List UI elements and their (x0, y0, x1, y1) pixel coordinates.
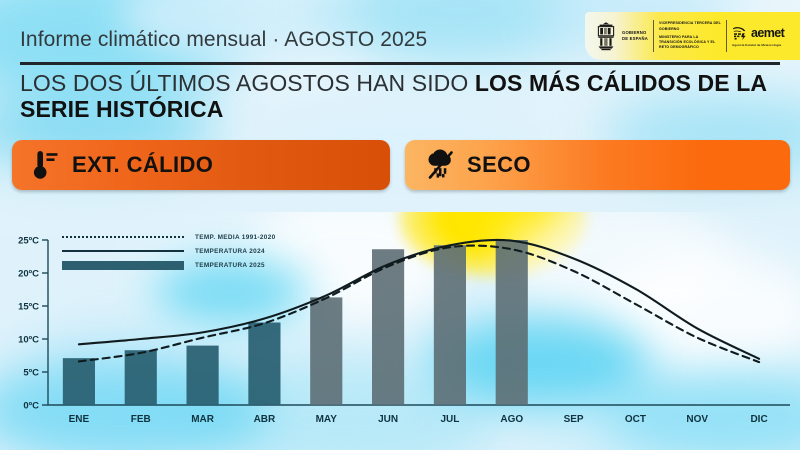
legend-label: TEMPERATURA 2025 (195, 262, 265, 269)
y-axis-tick-label: 25ºC (18, 236, 39, 247)
government-label: GOBIERNO DE ESPAÑA (622, 30, 648, 41)
y-axis-tick-label: 0ºC (23, 401, 39, 412)
legend-swatch-bar (62, 261, 187, 270)
x-axis-tick-label: AGO (500, 414, 523, 425)
y-axis-tick-label: 20ºC (18, 269, 39, 280)
legend-swatch-solid (62, 250, 187, 253)
logo-divider (726, 20, 727, 52)
status-badge-temperature[interactable]: EXT. CÁLIDO (12, 140, 390, 190)
status-badge-label: EXT. CÁLIDO (72, 152, 213, 178)
aemet-subtitle: Agencia Estatal de Meteorología (732, 43, 784, 47)
x-axis-tick-label: MAY (316, 414, 338, 425)
logo-divider (653, 20, 654, 52)
x-axis-tick-label: OCT (625, 414, 646, 425)
legend-item-2025: TEMPERATURA 2025 (62, 258, 276, 272)
x-axis-tick-label: JUN (378, 414, 398, 425)
legend-item-normal: TEMP. MEDIA 1991-2020 (62, 230, 276, 244)
chart-bar (496, 240, 528, 405)
legend-item-2024: TEMPERATURA 2024 (62, 244, 276, 258)
status-badge-label: SECO (467, 152, 531, 178)
x-axis-tick-label: MAR (191, 414, 215, 425)
x-axis-tick-label: FEB (131, 414, 151, 425)
legend-label: TEMP. MEDIA 1991-2020 (195, 234, 276, 241)
aemet-logo: aemet Agencia Estatal de Meteorología (732, 25, 784, 48)
chart-bar (434, 245, 466, 405)
header-divider (20, 62, 780, 65)
chart-bar (310, 297, 342, 405)
ministry-line-2: MINISTERIO PARA LA TRANSICIÓN ECOLÓGICA … (659, 35, 721, 51)
subtitle-plain: LOS DOS ÚLTIMOS AGOSTOS HAN SIDO (20, 70, 475, 96)
chart-legend: TEMP. MEDIA 1991-2020 TEMPERATURA 2024 T… (62, 230, 276, 272)
y-axis-tick-label: 10ºC (18, 335, 39, 346)
infographic-root: GOBIERNO DE ESPAÑA VICEPRESIDENCIA TERCE… (0, 0, 800, 450)
status-badge-precipitation[interactable]: SECO (405, 140, 790, 190)
legend-swatch-dashed (62, 236, 187, 238)
page-subtitle: LOS DOS ÚLTIMOS AGOSTOS HAN SIDO LOS MÁS… (20, 70, 782, 122)
status-badges: EXT. CÁLIDO SECO (0, 140, 800, 196)
chart-bar (187, 346, 219, 405)
page-title: Informe climático mensual · AGOSTO 2025 (20, 28, 427, 52)
x-axis-tick-label: JUL (440, 414, 459, 425)
legend-label: TEMPERATURA 2024 (195, 248, 265, 255)
climate-chart: 0ºC5ºC10ºC15ºC20ºC25ºCENEFEBMARABRMAYJUN… (0, 212, 800, 450)
aemet-wordmark: aemet (751, 27, 784, 40)
aemet-mark-icon (732, 25, 749, 42)
cloud-rain-crossed-icon (415, 148, 467, 182)
spain-coat-of-arms-icon (595, 21, 617, 51)
chart-bar (125, 350, 157, 405)
ministry-line-1: VICEPRESIDENCIA TERCERA DEL GOBIERNO (659, 21, 721, 31)
x-axis-tick-label: SEP (564, 414, 584, 425)
ministry-label: VICEPRESIDENCIA TERCERA DEL GOBIERNO MIN… (659, 21, 721, 50)
y-axis-tick-label: 15ºC (18, 302, 39, 313)
x-axis-tick-label: ENE (69, 414, 90, 425)
header: GOBIERNO DE ESPAÑA VICEPRESIDENCIA TERCE… (0, 8, 800, 136)
institutional-logo-plate: GOBIERNO DE ESPAÑA VICEPRESIDENCIA TERCE… (585, 12, 800, 60)
chart-bar (63, 358, 95, 405)
thermometer-icon (20, 148, 72, 182)
x-axis-tick-label: NOV (686, 414, 708, 425)
x-axis-tick-label: ABR (254, 414, 276, 425)
x-axis-tick-label: DIC (750, 414, 767, 425)
chart-bar (248, 323, 280, 406)
y-axis-tick-label: 5ºC (23, 368, 39, 379)
